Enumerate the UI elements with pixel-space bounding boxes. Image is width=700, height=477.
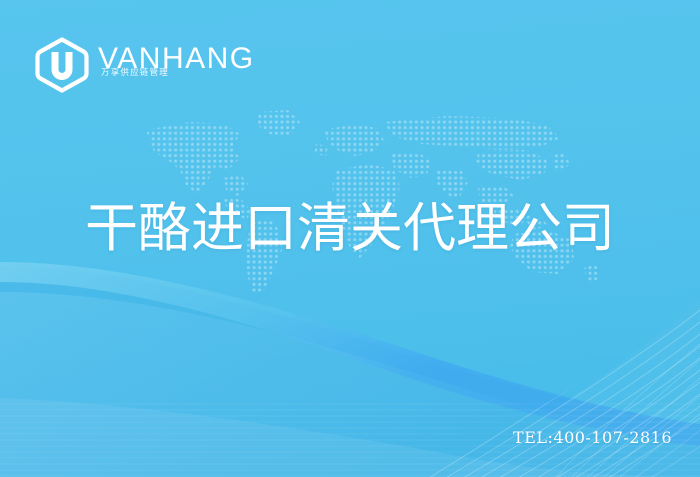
hexagon-u-logo-icon xyxy=(34,36,90,94)
logo-subtitle: 万享供应链管理 xyxy=(101,69,169,78)
contact-phone: TEL:400-107-2816 xyxy=(513,430,672,446)
brand-logo: VANHANG 万享供应链管理 xyxy=(34,36,98,94)
poster-canvas: VANHANG 万享供应链管理 干酪进口清关代理公司 TEL:400-107-2… xyxy=(0,0,700,477)
page-title: 干酪进口清关代理公司 xyxy=(0,202,700,255)
